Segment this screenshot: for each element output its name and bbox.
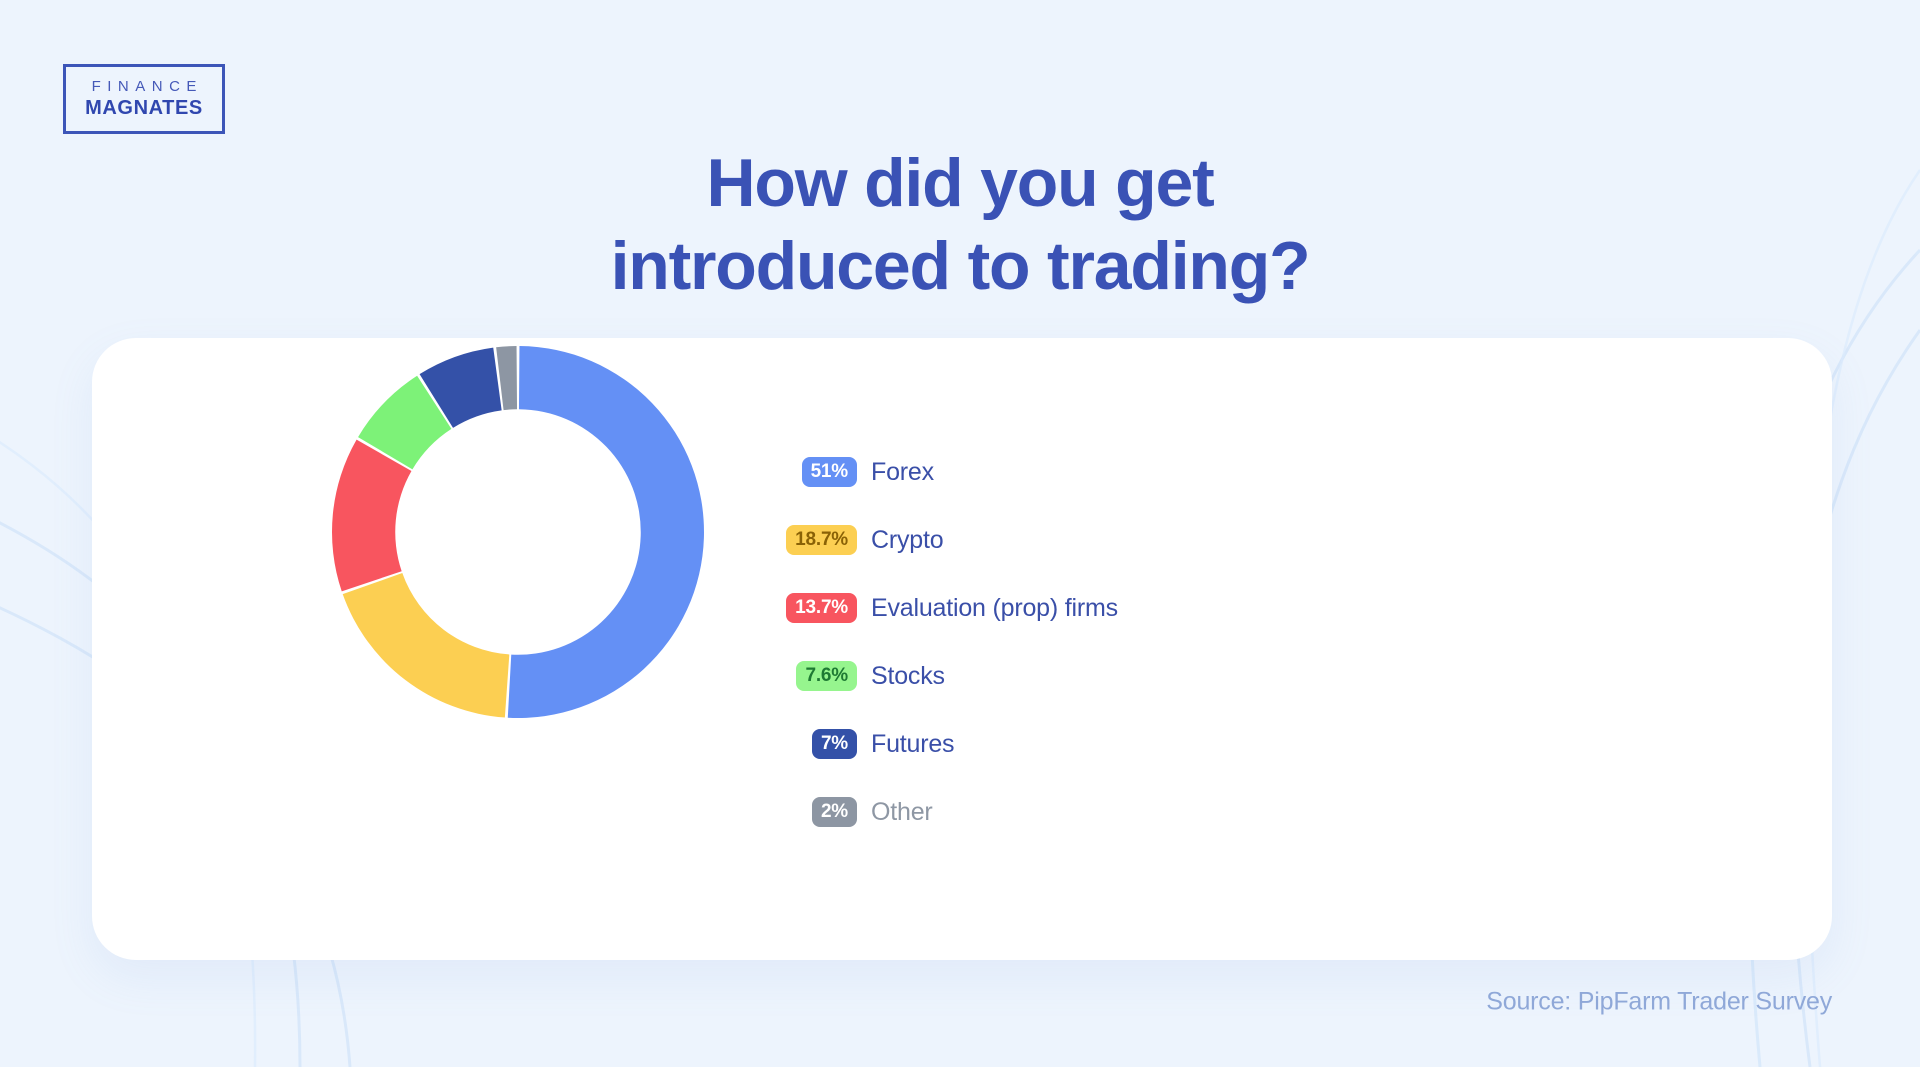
legend-label-forex: Forex (871, 458, 934, 487)
finance-magnates-logo: FINANCE MAGNATES (63, 64, 225, 134)
logo-line-magnates: MAGNATES (85, 97, 203, 120)
page-title-line-1: How did you get (0, 142, 1920, 225)
source-caption: Source: PipFarm Trader Survey (1486, 988, 1832, 1017)
legend-item-stocks[interactable]: 7.6%Stocks (782, 659, 1482, 693)
logo-line-finance: FINANCE (85, 78, 203, 95)
legend-badge-holder: 7% (782, 729, 857, 759)
legend-label-crypto: Crypto (871, 526, 943, 555)
donut-slice-evaluation-prop-firms[interactable] (332, 440, 411, 592)
legend-percent-badge-other: 2% (812, 797, 857, 827)
page-title-line-2: introduced to trading? (0, 225, 1920, 308)
donut-slice-forex[interactable] (508, 346, 704, 718)
legend-badge-holder: 51% (782, 457, 857, 487)
page-title: How did you get introduced to trading? (0, 142, 1920, 308)
legend-percent-badge-crypto: 18.7% (786, 525, 857, 555)
legend-badge-holder: 13.7% (782, 593, 857, 623)
legend-label-evaluation-prop-firms: Evaluation (prop) firms (871, 594, 1118, 623)
legend-label-futures: Futures (871, 730, 954, 759)
legend-badge-holder: 2% (782, 797, 857, 827)
legend-badge-holder: 7.6% (782, 661, 857, 691)
legend-item-forex[interactable]: 51%Forex (782, 455, 1482, 489)
legend-item-evaluation-prop-firms[interactable]: 13.7%Evaluation (prop) firms (782, 591, 1482, 625)
legend-percent-badge-futures: 7% (812, 729, 857, 759)
legend-item-futures[interactable]: 7%Futures (782, 727, 1482, 761)
legend-item-other[interactable]: 2%Other (782, 795, 1482, 829)
legend-label-other: Other (871, 798, 933, 827)
legend-percent-badge-stocks: 7.6% (796, 661, 857, 691)
legend-item-crypto[interactable]: 18.7%Crypto (782, 523, 1482, 557)
chart-legend: 51%Forex18.7%Crypto13.7%Evaluation (prop… (782, 455, 1482, 829)
legend-percent-badge-forex: 51% (802, 457, 857, 487)
legend-percent-badge-evaluation-prop-firms: 13.7% (786, 593, 857, 623)
legend-badge-holder: 18.7% (782, 525, 857, 555)
donut-chart-svg (316, 330, 720, 734)
donut-slice-crypto[interactable] (343, 573, 510, 717)
legend-label-stocks: Stocks (871, 662, 945, 691)
donut-chart (316, 330, 720, 734)
